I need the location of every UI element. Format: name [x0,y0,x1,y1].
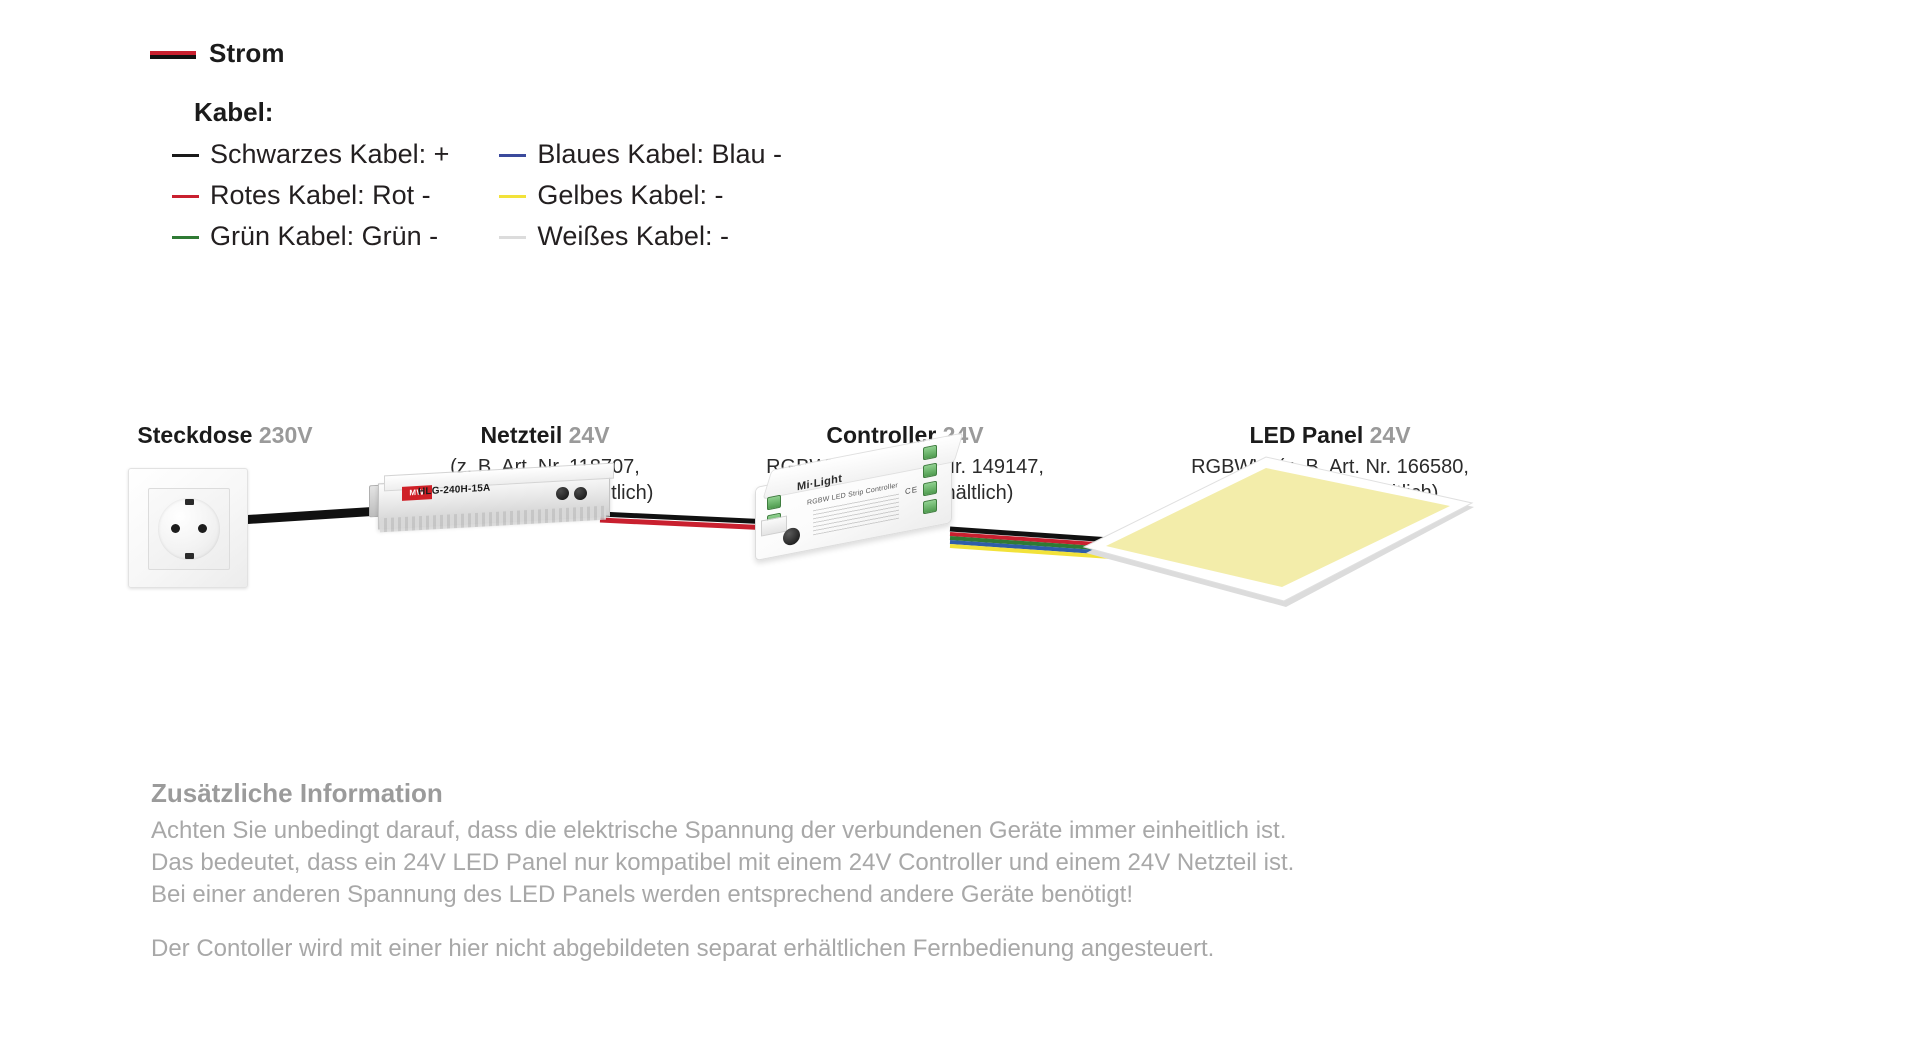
device-netzteil: MW HLG-240H-15A [378,467,618,537]
terminal-screw-icon [923,499,937,515]
info-paragraph-line: Der Contoller wird mit einer hier nicht … [151,933,1294,965]
info-spacer [151,911,1294,933]
terminal-screw-icon [923,445,937,461]
socket-earth-clip-top-icon [185,499,194,505]
device-controller: Mi·Light RGBW LED Strip Controller CE [755,450,970,580]
socket-inner-frame [148,488,230,570]
additional-information: Zusätzliche Information Achten Sie unbed… [151,778,1294,965]
terminal-screw-icon [923,481,937,497]
device-steckdose [128,468,248,588]
info-paragraph-line: Bei einer anderen Spannung des LED Panel… [151,879,1294,911]
diagram-canvas: Strom Kabel: Schwarzes Kabel: + Rotes Ka… [0,0,1920,1049]
terminal-screw-icon [923,463,937,479]
info-paragraph-line: Achten Sie unbedingt darauf, dass die el… [151,815,1294,847]
info-heading: Zusätzliche Information [151,778,1294,809]
socket-pin-hole-left-icon [171,524,180,533]
info-paragraph-line: Das bedeutet, dass ein 24V LED Panel nur… [151,847,1294,879]
terminal-screw-icon [767,495,781,511]
socket-earth-clip-bottom-icon [185,553,194,559]
socket-round-recess [158,498,220,560]
controller-output-terminals [923,445,937,520]
device-led-panel [1076,455,1476,615]
socket-pin-hole-right-icon [198,524,207,533]
